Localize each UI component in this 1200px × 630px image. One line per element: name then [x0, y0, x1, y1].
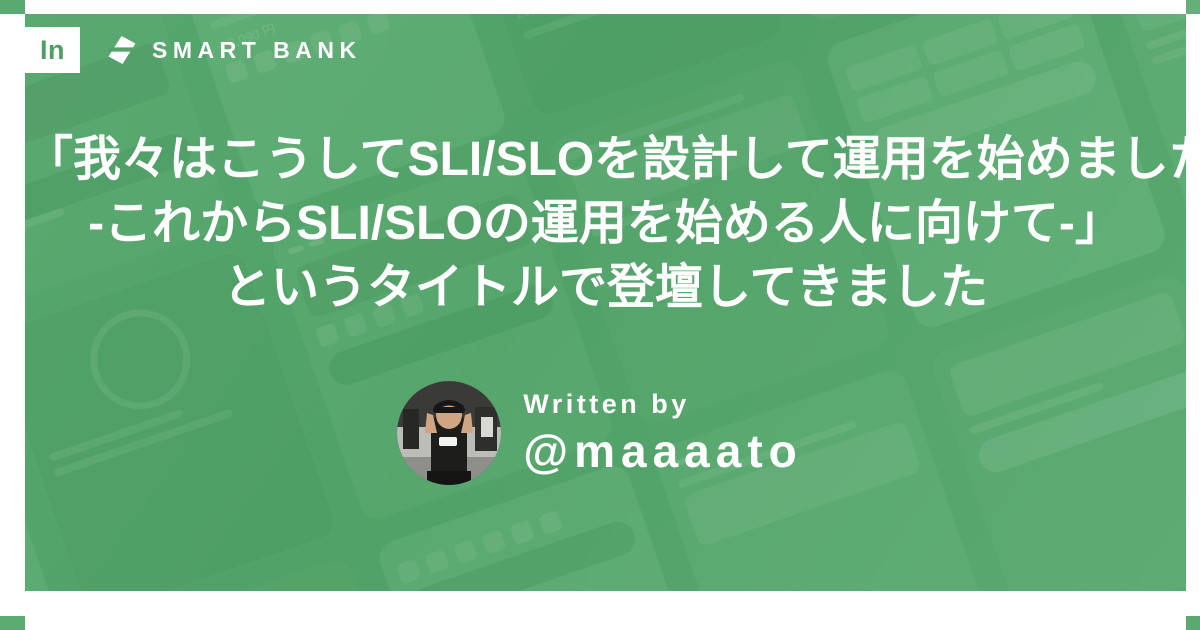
- author-text: Written by @maaaato: [523, 389, 803, 477]
- smartbank-wordmark: SMART BANK: [152, 39, 362, 62]
- avatar: [397, 381, 501, 485]
- ogp-card: ポケット 合計の残高 173,456 円 メインポケット 123,456 円 カ…: [0, 0, 1200, 630]
- inside-badge: In: [25, 27, 80, 73]
- author-handle: @maaaato: [523, 426, 803, 477]
- author-section: Written by @maaaato: [0, 381, 1200, 485]
- title-line-1: 「我々はこうしてSLI/SLOを設計して運用を始めました: [25, 128, 1186, 192]
- title-line-2: -これからSLI/SLOの運用を始める人に向けて-」: [25, 192, 1186, 256]
- written-by-label: Written by: [523, 389, 803, 420]
- page-title: 「我々はこうしてSLI/SLOを設計して運用を始めました -これからSLI/SL…: [25, 128, 1186, 319]
- brand-header: In SMART BANK: [25, 27, 362, 73]
- title-line-3: というタイトルで登壇してきました: [25, 256, 1186, 320]
- smartbank-logo-mark-icon: [107, 35, 137, 65]
